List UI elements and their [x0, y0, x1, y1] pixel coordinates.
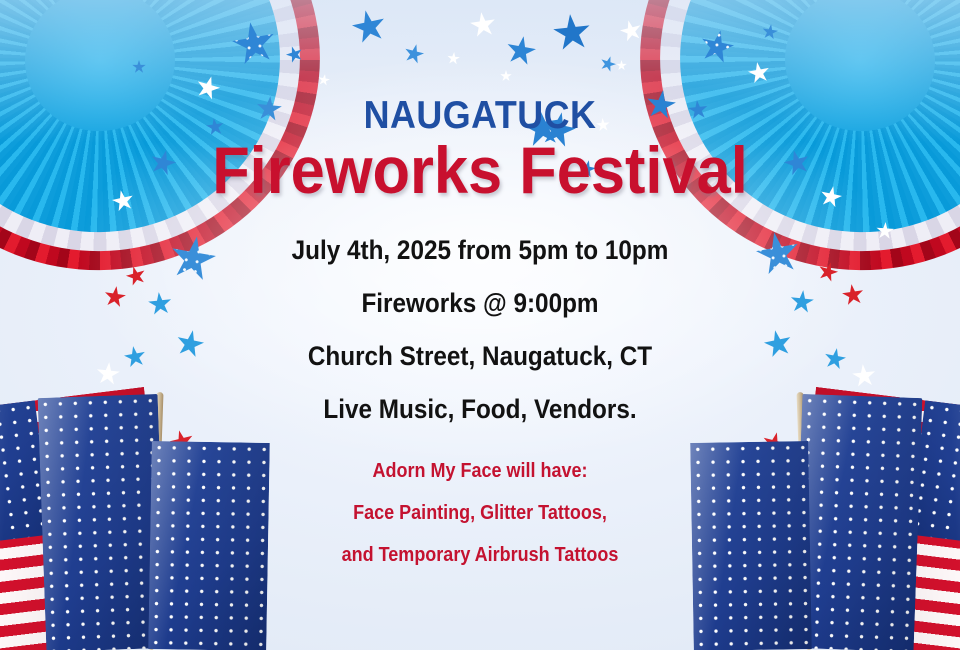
- event-detail-line: Church Street, Naugatuck, CT: [48, 343, 912, 370]
- event-details: July 4th, 2025 from 5pm to 10pmFireworks…: [0, 237, 960, 423]
- vendor-line: and Temporary Airbrush Tattoos: [48, 545, 912, 565]
- poster-title-main: Fireworks Festival: [34, 137, 927, 203]
- event-detail-line: Fireworks @ 9:00pm: [48, 290, 912, 317]
- festival-poster: NAUGATUCK Fireworks Festival July 4th, 2…: [0, 0, 960, 650]
- poster-title-city: NAUGATUCK: [38, 96, 921, 135]
- event-detail-line: July 4th, 2025 from 5pm to 10pm: [48, 237, 912, 264]
- vendor-line: Face Painting, Glitter Tattoos,: [48, 503, 912, 523]
- event-detail-line: Live Music, Food, Vendors.: [48, 396, 912, 423]
- poster-content: NAUGATUCK Fireworks Festival July 4th, 2…: [0, 0, 960, 587]
- vendor-details: Adorn My Face will have:Face Painting, G…: [0, 461, 960, 565]
- vendor-line: Adorn My Face will have:: [48, 461, 912, 481]
